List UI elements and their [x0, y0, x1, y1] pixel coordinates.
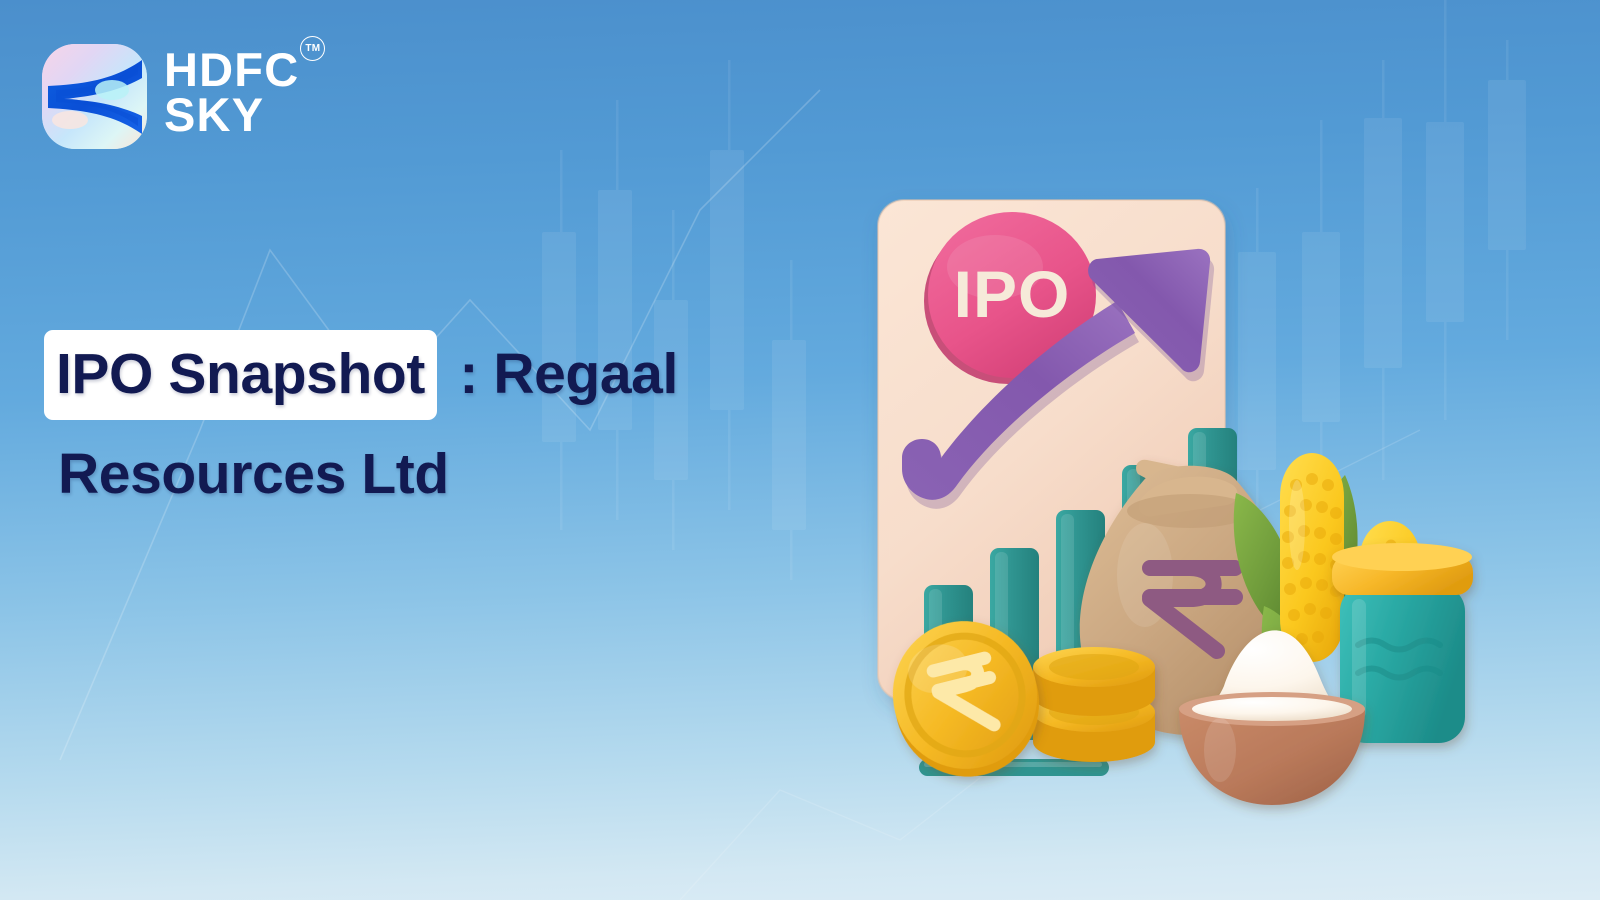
ipo-badge-label: IPO	[954, 257, 1071, 331]
headline-line-2: Resources Ltd	[46, 446, 786, 503]
brand-wordmark: HDFC SKY TM	[164, 44, 299, 137]
headline-rest-text: : Regaal	[444, 342, 678, 406]
headline-highlight: IPO Snapshot	[44, 330, 437, 420]
trademark-icon: TM	[300, 36, 325, 61]
brand-logo[interactable]: HDFC SKY TM	[42, 44, 299, 149]
logo-swoosh-shape	[42, 44, 147, 149]
ipo-growth-illustration: IPO	[845, 175, 1545, 815]
page-title: IPO Snapshot : Regaal Resources Ltd	[46, 330, 786, 503]
headline-line2-text: Resources Ltd	[58, 442, 449, 506]
brand-name-line2: SKY	[164, 93, 299, 138]
ipo-snapshot-banner: HDFC SKY TM IPO Snapshot : Regaal Resour…	[0, 0, 1600, 900]
hdfc-sky-logo-mark-icon	[42, 44, 147, 149]
headline-line-1: IPO Snapshot : Regaal	[46, 330, 786, 420]
headline-highlight-text: IPO Snapshot	[56, 342, 425, 406]
illustration-svg: IPO	[845, 175, 1545, 815]
